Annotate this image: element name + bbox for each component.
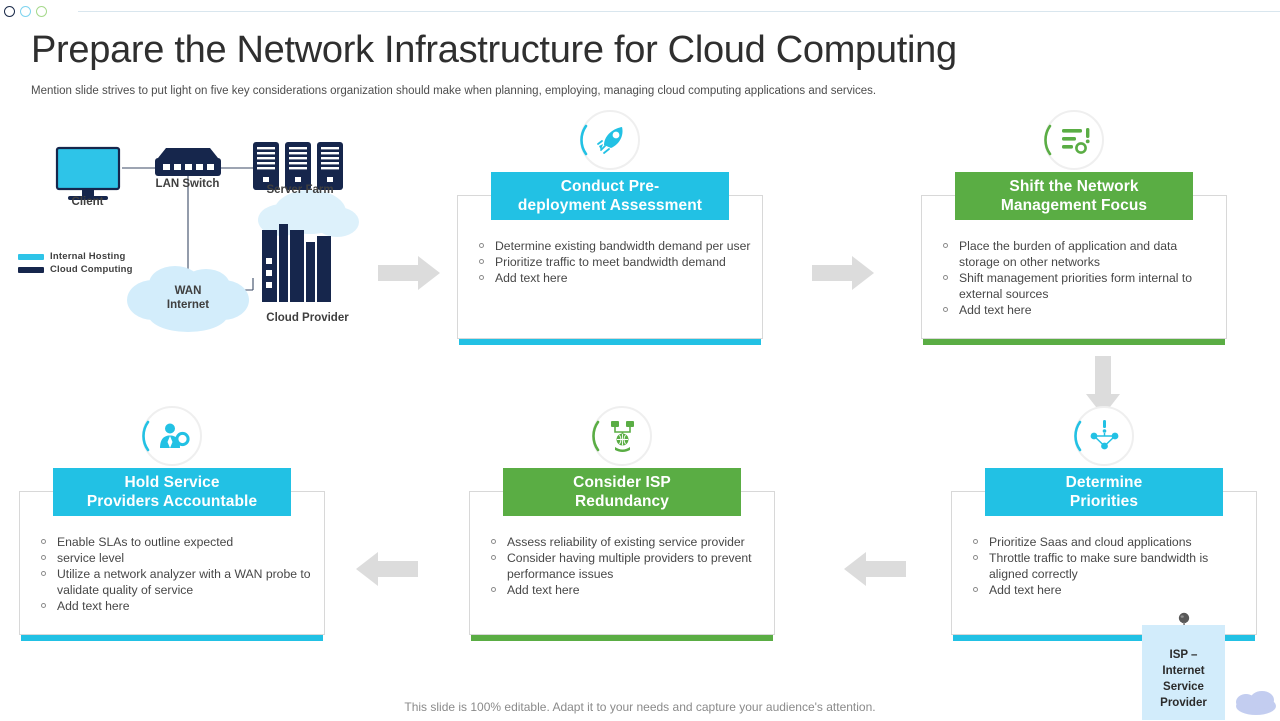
card-bullet-list: Enable SLAs to outline expected service … [33,534,315,614]
list-item: Enable SLAs to outline expected [33,534,315,550]
cloud-provider-icon [262,224,331,302]
client-label: Client [50,196,125,208]
card-accent-bar [923,339,1225,345]
card-title-line2: Management Focus [1001,197,1147,214]
cloud-backdrop-icon [258,190,359,237]
window-chrome [0,0,1280,24]
card-shift-the-network-management-focus[interactable]: Shift the Network Management Focus Place… [921,110,1227,355]
arrow-left-bottom-1 [356,552,418,591]
card-title-line1: Hold Service [124,474,219,491]
card-bullet-list: Prioritize Saas and cloud applications T… [965,534,1247,598]
card-title-line1: Determine [1066,474,1143,491]
card-title-line2: Redundancy [575,493,669,510]
user-settings-icon [142,406,202,466]
card-title-line2: deployment Assessment [518,197,702,214]
network-diagram: Client LAN Switch Server Farm WAN Intern… [10,120,390,350]
list-item: Add text here [935,302,1217,318]
server-farm-icon [253,142,343,190]
footer-note: This slide is 100% editable. Adapt it to… [0,700,1280,714]
rocket-icon [580,110,640,170]
list-item: Add text here [483,582,765,598]
legend-item-cloud-computing: Cloud Computing [18,263,133,276]
legend-label: Cloud Computing [50,264,133,275]
header-rule [78,11,1280,12]
list-item: Determine existing bandwidth demand per … [471,238,753,254]
wan-label-line1: WAN [138,284,238,298]
isp-tooltip-line2: Internet [1142,663,1225,679]
card-title-line2: Priorities [1070,493,1138,510]
cloud-provider-label: Cloud Provider [245,312,370,324]
slide-canvas: Prepare the Network Infrastructure for C… [0,0,1280,720]
isp-tooltip-line3: Service [1142,679,1225,695]
card-title-ribbon: Consider ISP Redundancy [503,468,741,516]
wan-label-line2: Internet [138,298,238,312]
network-globe-icon [592,406,652,466]
legend-swatch-icon [18,267,44,273]
lan-switch-icon [155,148,221,176]
window-dot-navy[interactable] [4,6,15,17]
card-title-ribbon: Conduct Pre- deployment Assessment [491,172,729,220]
arrow-right-top-1 [378,256,440,295]
server-farm-label: Server Farm [245,184,355,196]
card-determine-priorities[interactable]: Determine Priorities Prioritize Saas and… [951,406,1257,651]
client-icon [57,148,119,200]
card-bullet-list: Assess reliability of existing service p… [483,534,765,598]
diagram-legend: Internal Hosting Cloud Computing [18,250,133,276]
list-item: Prioritize Saas and cloud applications [965,534,1247,550]
card-title-line1: Consider ISP [573,474,671,491]
legend-label: Internal Hosting [50,251,126,262]
card-bullet-list: Place the burden of application and data… [935,238,1217,318]
list-item: Consider having multiple providers to pr… [483,550,765,582]
list-item: Throttle traffic to make sure bandwidth … [965,550,1247,582]
list-item: Add text here [33,598,315,614]
page-title: Prepare the Network Infrastructure for C… [31,27,1131,73]
card-accent-bar [471,635,773,641]
card-title-ribbon: Hold Service Providers Accountable [53,468,291,516]
wan-internet-label: WAN Internet [138,284,238,312]
list-item: Add text here [965,582,1247,598]
legend-item-internal-hosting: Internal Hosting [18,250,133,263]
isp-tooltip-line1: ISP – [1142,647,1225,663]
arrow-left-bottom-2 [844,552,906,591]
card-bullet-list: Determine existing bandwidth demand per … [471,238,753,286]
list-item: Prioritize traffic to meet bandwidth dem… [471,254,753,270]
card-title-ribbon: Determine Priorities [985,468,1223,516]
card-title-ribbon: Shift the Network Management Focus [955,172,1193,220]
arrow-right-top-2 [812,256,874,295]
card-accent-bar [459,339,761,345]
list-item: Utilize a network analyzer with a WAN pr… [33,566,315,598]
window-dot-blue[interactable] [20,6,31,17]
list-item: service level [33,550,315,566]
card-conduct-pre-deployment-assessment[interactable]: Conduct Pre- deployment Assessment Deter… [457,110,763,355]
card-consider-isp-redundancy[interactable]: Consider ISP Redundancy Assess reliabili… [469,406,775,651]
window-dot-green[interactable] [36,6,47,17]
task-list-settings-icon [1044,110,1104,170]
card-hold-service-providers-accountable[interactable]: Hold Service Providers Accountable Enabl… [19,406,325,651]
list-item: Place the burden of application and data… [935,238,1217,270]
page-subtitle: Mention slide strives to put light on fi… [31,84,1031,99]
priority-network-icon [1074,406,1134,466]
legend-swatch-icon [18,254,44,260]
list-item: Assess reliability of existing service p… [483,534,765,550]
card-title-line1: Shift the Network [1009,178,1138,195]
list-item: Add text here [471,270,753,286]
card-accent-bar [21,635,323,641]
list-item: Shift management priorities form interna… [935,270,1217,302]
card-title-line1: Conduct Pre- [561,178,660,195]
lan-switch-label: LAN Switch [135,178,240,190]
card-title-line2: Providers Accountable [87,493,257,510]
